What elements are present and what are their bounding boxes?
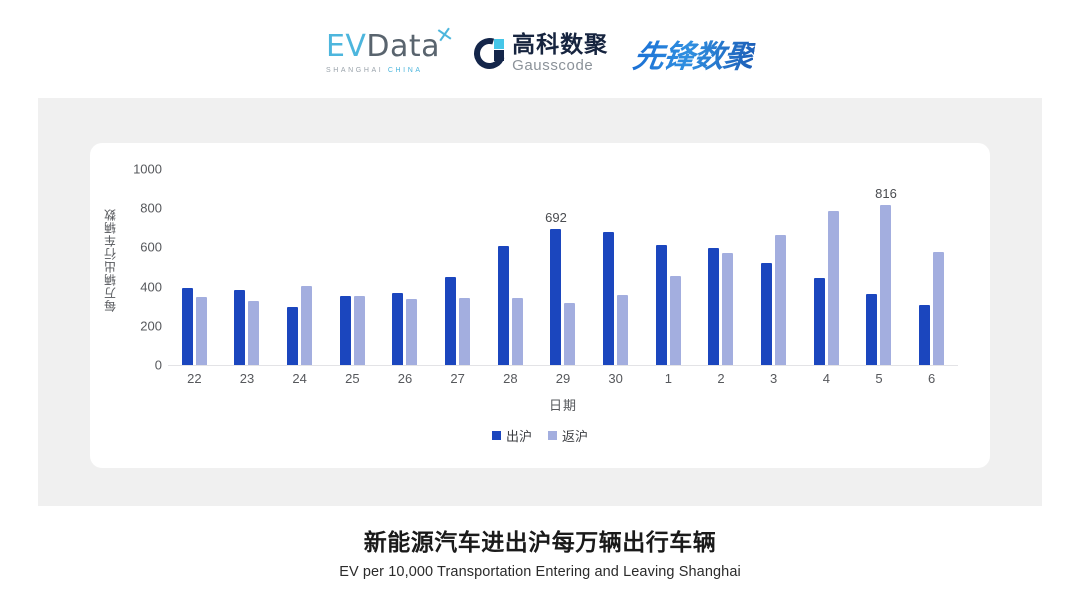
bar-出沪-5[interactable] bbox=[866, 294, 877, 365]
bar-返沪-5[interactable] bbox=[880, 205, 891, 365]
bar-出沪-4[interactable] bbox=[814, 278, 825, 365]
chart-card: 每万辆出行车辆数 02004006008001000 692816 222324… bbox=[90, 143, 990, 468]
bar-出沪-2[interactable] bbox=[708, 248, 719, 365]
y-axis-ticks: 02004006008001000 bbox=[120, 169, 162, 365]
y-tick-label: 1000 bbox=[133, 162, 162, 177]
x-axis-ticks: 222324252627282930123456 bbox=[168, 371, 958, 391]
caption-title-cn: 新能源汽车进出沪每万辆出行车辆 bbox=[0, 528, 1080, 557]
bar-group[interactable] bbox=[379, 169, 432, 365]
bar-出沪-1[interactable] bbox=[656, 245, 667, 365]
bar-返沪-25[interactable] bbox=[354, 296, 365, 365]
x-tick-label: 23 bbox=[240, 371, 254, 386]
bar-出沪-23[interactable] bbox=[234, 290, 245, 365]
bar-返沪-30[interactable] bbox=[617, 295, 628, 365]
bar-group[interactable] bbox=[589, 169, 642, 365]
evdata-country-text: CHINA bbox=[388, 67, 423, 74]
x-axis-line bbox=[168, 365, 958, 366]
bar-返沪-2[interactable] bbox=[722, 253, 733, 365]
bar-出沪-3[interactable] bbox=[761, 263, 772, 365]
bar-group[interactable] bbox=[168, 169, 221, 365]
x-axis-title: 日期 bbox=[168, 395, 958, 414]
bar-group[interactable] bbox=[221, 169, 274, 365]
bar-返沪-3[interactable] bbox=[775, 235, 786, 365]
x-tick-label: 5 bbox=[875, 371, 882, 386]
gausscode-logo: 高科数聚 Gausscode bbox=[474, 33, 608, 73]
y-tick-label: 0 bbox=[155, 358, 162, 373]
bar-返沪-29[interactable] bbox=[564, 303, 575, 365]
legend-label: 返沪 bbox=[562, 426, 588, 445]
x-tick-label: 3 bbox=[770, 371, 777, 386]
bar-出沪-27[interactable] bbox=[445, 277, 456, 365]
xianfeng-logo: 先锋数聚 bbox=[630, 31, 757, 76]
y-tick-label: 600 bbox=[140, 240, 162, 255]
bar-group[interactable] bbox=[484, 169, 537, 365]
evdata-logo: EVData ✕ SHANGHAI CHINA bbox=[326, 32, 448, 74]
bar-group[interactable] bbox=[537, 169, 590, 365]
chart-panel: 每万辆出行车辆数 02004006008001000 692816 222324… bbox=[38, 98, 1042, 506]
gausscode-wordmark: 高科数聚 Gausscode bbox=[512, 33, 608, 73]
x-tick-label: 30 bbox=[608, 371, 622, 386]
y-tick-label: 200 bbox=[140, 318, 162, 333]
bar-出沪-28[interactable] bbox=[498, 246, 509, 365]
bar-value-label: 816 bbox=[875, 186, 897, 201]
bar-value-label: 692 bbox=[545, 210, 567, 225]
x-tick-label: 27 bbox=[450, 371, 464, 386]
bar-出沪-6[interactable] bbox=[919, 305, 930, 365]
bar-出沪-30[interactable] bbox=[603, 232, 614, 365]
evdata-city-text: SHANGHAI bbox=[326, 67, 383, 74]
legend-swatch-icon bbox=[492, 431, 501, 440]
bar-返沪-24[interactable] bbox=[301, 286, 312, 365]
bar-返沪-6[interactable] bbox=[933, 252, 944, 365]
bar-group[interactable] bbox=[905, 169, 958, 365]
bar-chart: 每万辆出行车辆数 02004006008001000 692816 222324… bbox=[90, 143, 990, 468]
bar-group[interactable] bbox=[273, 169, 326, 365]
bar-返沪-28[interactable] bbox=[512, 298, 523, 365]
x-tick-label: 29 bbox=[556, 371, 570, 386]
x-tick-label: 28 bbox=[503, 371, 517, 386]
x-tick-label: 24 bbox=[292, 371, 306, 386]
bar-group[interactable] bbox=[747, 169, 800, 365]
y-axis-title: 每万辆出行车辆数 bbox=[100, 175, 120, 345]
x-tick-label: 6 bbox=[928, 371, 935, 386]
x-tick-label: 22 bbox=[187, 371, 201, 386]
bar-返沪-23[interactable] bbox=[248, 301, 259, 365]
gausscode-en-text: Gausscode bbox=[512, 58, 608, 73]
gausscode-ring-shape bbox=[469, 32, 511, 74]
bar-返沪-1[interactable] bbox=[670, 276, 681, 365]
bar-出沪-22[interactable] bbox=[182, 288, 193, 365]
bar-group[interactable] bbox=[695, 169, 748, 365]
x-tick-label: 26 bbox=[398, 371, 412, 386]
y-tick-label: 800 bbox=[140, 201, 162, 216]
logo-bar: EVData ✕ SHANGHAI CHINA 高科数聚 Gausscode 先… bbox=[0, 20, 1080, 86]
gausscode-mark-icon bbox=[474, 38, 505, 69]
legend-swatch-icon bbox=[548, 431, 557, 440]
gausscode-cn-text: 高科数聚 bbox=[512, 33, 608, 56]
bar-出沪-25[interactable] bbox=[340, 296, 351, 365]
bar-出沪-29[interactable] bbox=[550, 229, 561, 365]
caption-block: 新能源汽车进出沪每万辆出行车辆 EV per 10,000 Transporta… bbox=[0, 528, 1080, 580]
chart-legend: 出沪返沪 bbox=[90, 426, 990, 445]
legend-item-返沪[interactable]: 返沪 bbox=[548, 426, 588, 445]
x-tick-label: 2 bbox=[717, 371, 724, 386]
legend-label: 出沪 bbox=[506, 426, 532, 445]
evdata-ev-text: EV bbox=[326, 29, 366, 64]
bar-group[interactable] bbox=[431, 169, 484, 365]
gausscode-square-dark bbox=[494, 50, 504, 61]
x-mark-icon: ✕ bbox=[434, 24, 455, 48]
bar-返沪-4[interactable] bbox=[828, 211, 839, 365]
bar-出沪-24[interactable] bbox=[287, 307, 298, 365]
bar-group[interactable] bbox=[800, 169, 853, 365]
y-tick-label: 400 bbox=[140, 279, 162, 294]
x-tick-label: 4 bbox=[823, 371, 830, 386]
bar-group[interactable] bbox=[326, 169, 379, 365]
bar-返沪-26[interactable] bbox=[406, 299, 417, 365]
legend-item-出沪[interactable]: 出沪 bbox=[492, 426, 532, 445]
caption-title-en: EV per 10,000 Transportation Entering an… bbox=[0, 564, 1080, 580]
bar-返沪-27[interactable] bbox=[459, 298, 470, 365]
evdata-tagline: SHANGHAI CHINA bbox=[326, 67, 423, 74]
evdata-data-text: Data bbox=[366, 29, 440, 64]
bar-返沪-22[interactable] bbox=[196, 297, 207, 365]
evdata-wordmark: EVData ✕ bbox=[326, 32, 440, 62]
x-tick-label: 1 bbox=[665, 371, 672, 386]
bar-group[interactable] bbox=[642, 169, 695, 365]
gausscode-square-accent bbox=[494, 39, 504, 49]
bar-出沪-26[interactable] bbox=[392, 293, 403, 365]
plot-area: 692816 bbox=[168, 169, 958, 365]
x-tick-label: 25 bbox=[345, 371, 359, 386]
